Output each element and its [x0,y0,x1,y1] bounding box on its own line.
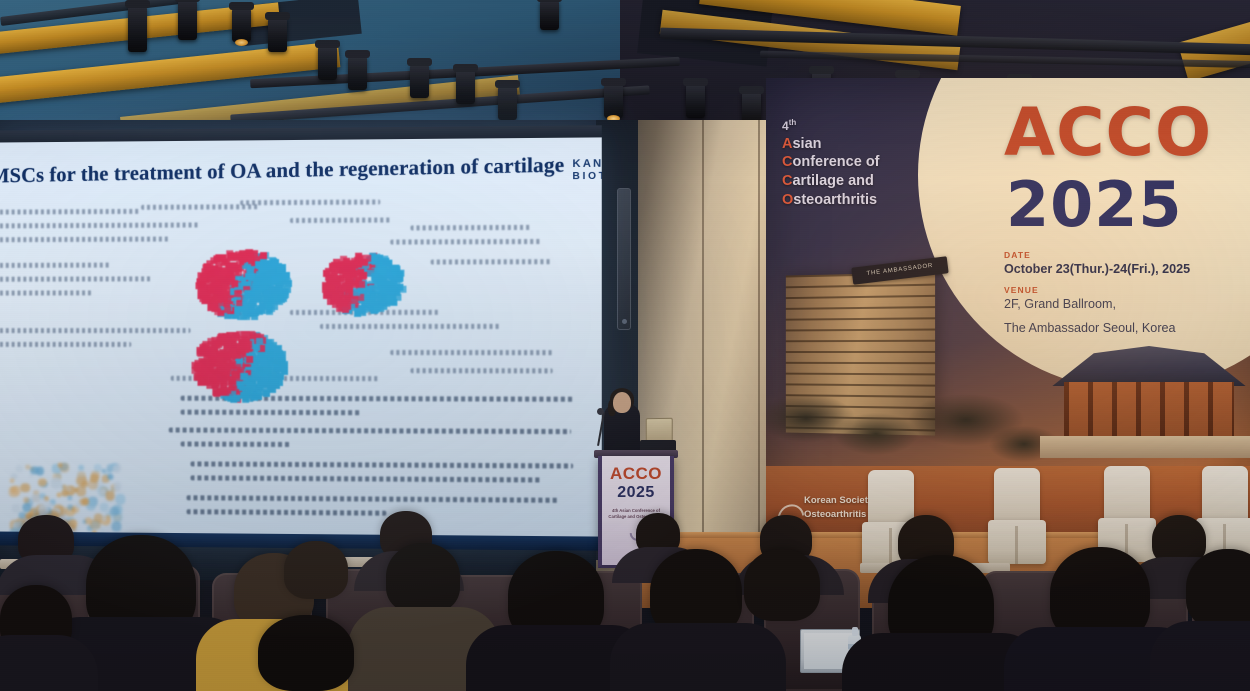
podium-laptop [646,418,673,442]
stage-light [348,56,367,90]
banner-venue-line-2: The Ambassador Seoul, Korea [1004,320,1234,337]
logo-line-2: BIOTECH [572,170,601,182]
stage-light [268,18,287,52]
stage-light [232,8,251,42]
speaker-head [613,392,631,413]
audience-head [1186,549,1250,629]
column-speaker [617,188,631,330]
stage-light [318,46,337,80]
banner-date-value: October 23(Thur.)-24(Fri.), 2025 [1004,261,1234,278]
cluster-plot-3 [191,328,282,398]
cluster-plot-2 [320,250,400,312]
stage-light [498,86,517,120]
banner-venue-label: VENUE [1004,285,1234,295]
audience-shoulders [1150,621,1250,691]
audience-head [284,541,348,599]
stage-light [540,0,559,30]
banner-details: DATE October 23(Thur.)-24(Fri.), 2025 VE… [1004,250,1234,344]
banner-date-label: DATE [1004,250,1234,260]
kangstem-logo: KANG STEM BIOTECH [572,158,601,182]
conference-hall-photo: MSCs for the treatment of OA and the reg… [0,0,1250,691]
stage-light [178,0,197,40]
banner-edition: 4th [782,118,922,135]
audience-head [744,549,820,621]
slide-surface: MSCs for the treatment of OA and the reg… [0,137,602,536]
banner-acronym-line-osteo: Osteoarthritis [782,191,922,210]
audience-head [386,543,460,613]
banner-acronym-line-cartilage: Cartilage and [782,172,922,191]
banner-title: ACCO [1004,94,1212,171]
slide-header: MSCs for the treatment of OA and the reg… [0,156,602,185]
audience-shoulders [0,635,98,691]
logo-line-1: KANG STEM [572,158,601,170]
audience-head [258,615,354,691]
banner-year: 2025 [1006,168,1183,241]
audience-shoulders [610,623,786,691]
microphone-icon [597,408,604,415]
projection-screen: MSCs for the treatment of OA and the reg… [0,125,602,551]
podium-title: ACCO [610,465,662,482]
cluster-plot-1 [195,246,285,316]
banner-acronym-line-asian: Asian [782,135,922,154]
audience [0,491,1250,691]
banner-pavilion [1034,346,1250,466]
banner-venue-line-1: 2F, Grand Ballroom, [1004,296,1234,313]
banner-acronym: 4th Asian Conference of Cartilage and Os… [782,118,922,210]
stage-light [456,70,475,104]
stage-light [604,84,623,118]
stage-light [686,84,705,118]
stage-light [128,6,147,52]
stage-light [410,64,429,98]
slide-title: MSCs for the treatment of OA and the reg… [0,152,564,188]
banner-acronym-line-conference: Conference of [782,153,922,172]
